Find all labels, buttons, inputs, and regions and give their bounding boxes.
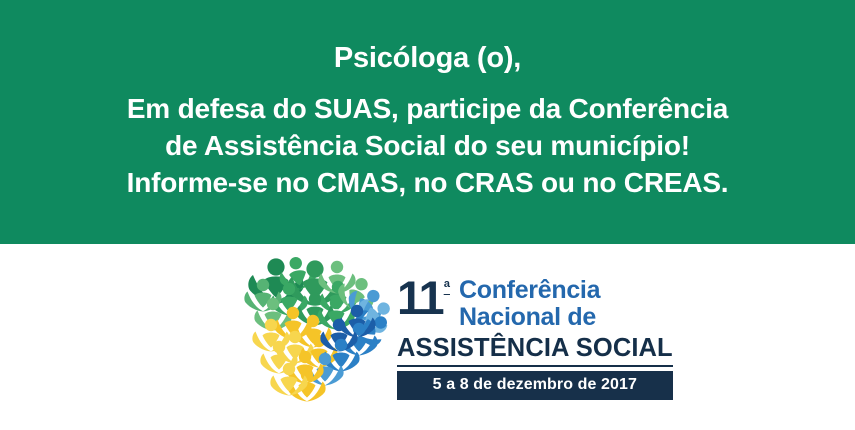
message-line-3: Informe-se no CMAS, no CRAS ou no CREAS. <box>127 166 729 199</box>
conference-title-line-1: Conferência <box>459 277 600 304</box>
brazil-map-people-icon <box>243 254 391 402</box>
campaign-banner: Psicóloga (o), Em defesa do SUAS, partic… <box>0 0 855 430</box>
message-panel: Psicóloga (o), Em defesa do SUAS, partic… <box>0 0 855 244</box>
conference-title-line-2: Nacional de <box>459 304 600 331</box>
conference-subtitle: ASSISTÊNCIA SOCIAL <box>397 334 673 367</box>
conference-date-badge: 5 a 8 de dezembro de 2017 <box>397 371 673 400</box>
conference-logo-lockup: 11 ª Conferência Nacional de ASSISTÊNCIA… <box>243 254 673 402</box>
conference-logo-text: 11 ª Conferência Nacional de ASSISTÊNCIA… <box>397 254 673 400</box>
edition-number: 11 <box>397 276 443 319</box>
logo-area: 11 ª Conferência Nacional de ASSISTÊNCIA… <box>0 244 855 430</box>
edition-ordinal: 11 ª <box>397 276 450 319</box>
conference-title-lines: Conferência Nacional de <box>459 276 600 331</box>
message-headline: Psicóloga (o), <box>334 41 521 75</box>
conference-title-row: 11 ª Conferência Nacional de <box>397 276 600 331</box>
message-line-2: de Assistência Social do seu município! <box>165 129 690 162</box>
message-line-1: Em defesa do SUAS, participe da Conferên… <box>127 92 728 125</box>
edition-ordinal-suffix: ª <box>444 279 450 296</box>
